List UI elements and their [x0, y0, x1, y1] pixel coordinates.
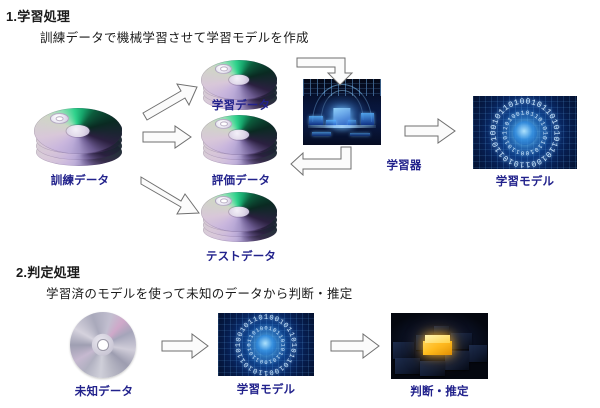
arrow-model-to-judgement	[330, 333, 380, 359]
evaluation-data-label: 評価データ	[191, 172, 291, 188]
arrow-training-to-test	[140, 168, 202, 216]
arrow-learningdata-to-learner	[296, 54, 366, 86]
test-data-label: テストデータ	[186, 248, 296, 264]
learner-image	[303, 79, 381, 145]
training-data-image	[28, 108, 132, 170]
arrow-training-to-learning	[142, 82, 200, 122]
judgement-image	[391, 313, 488, 379]
diagram-canvas: 1.学習処理 訓練データで機械学習させて学習モデルを作成 訓練データ 学習データ…	[0, 0, 600, 408]
arrow-learner-to-evaluation	[290, 146, 366, 176]
section-1-subheading: 訓練データで機械学習させて学習モデルを作成	[40, 27, 309, 46]
learner-label: 学習器	[377, 157, 431, 173]
arrow-unknown-to-model	[161, 333, 209, 359]
learning-model-label-2: 学習モデル	[218, 381, 314, 397]
unknown-data-label: 未知データ	[60, 383, 148, 399]
training-data-label: 訓練データ	[28, 172, 132, 188]
evaluation-data-image	[196, 115, 286, 169]
learning-model-label: 学習モデル	[473, 173, 577, 189]
section-1-heading: 1.学習処理	[6, 6, 70, 25]
arrow-learner-to-model	[404, 118, 456, 144]
test-data-image	[196, 192, 286, 246]
learning-data-label: 学習データ	[191, 97, 291, 113]
arrow-training-to-evaluation	[142, 125, 192, 149]
unknown-data-image	[70, 312, 136, 378]
judgement-label: 判断・推定	[391, 383, 488, 399]
section-2-subheading: 学習済のモデルを使って未知のデータから判断・推定	[46, 283, 353, 302]
section-2-heading: 2.判定処理	[16, 262, 80, 281]
learning-model-image: 1011010011010110100101101001011010 10110…	[473, 96, 577, 169]
learning-model-image-2: 10110100110101101001011010010110 1011010…	[218, 313, 314, 376]
